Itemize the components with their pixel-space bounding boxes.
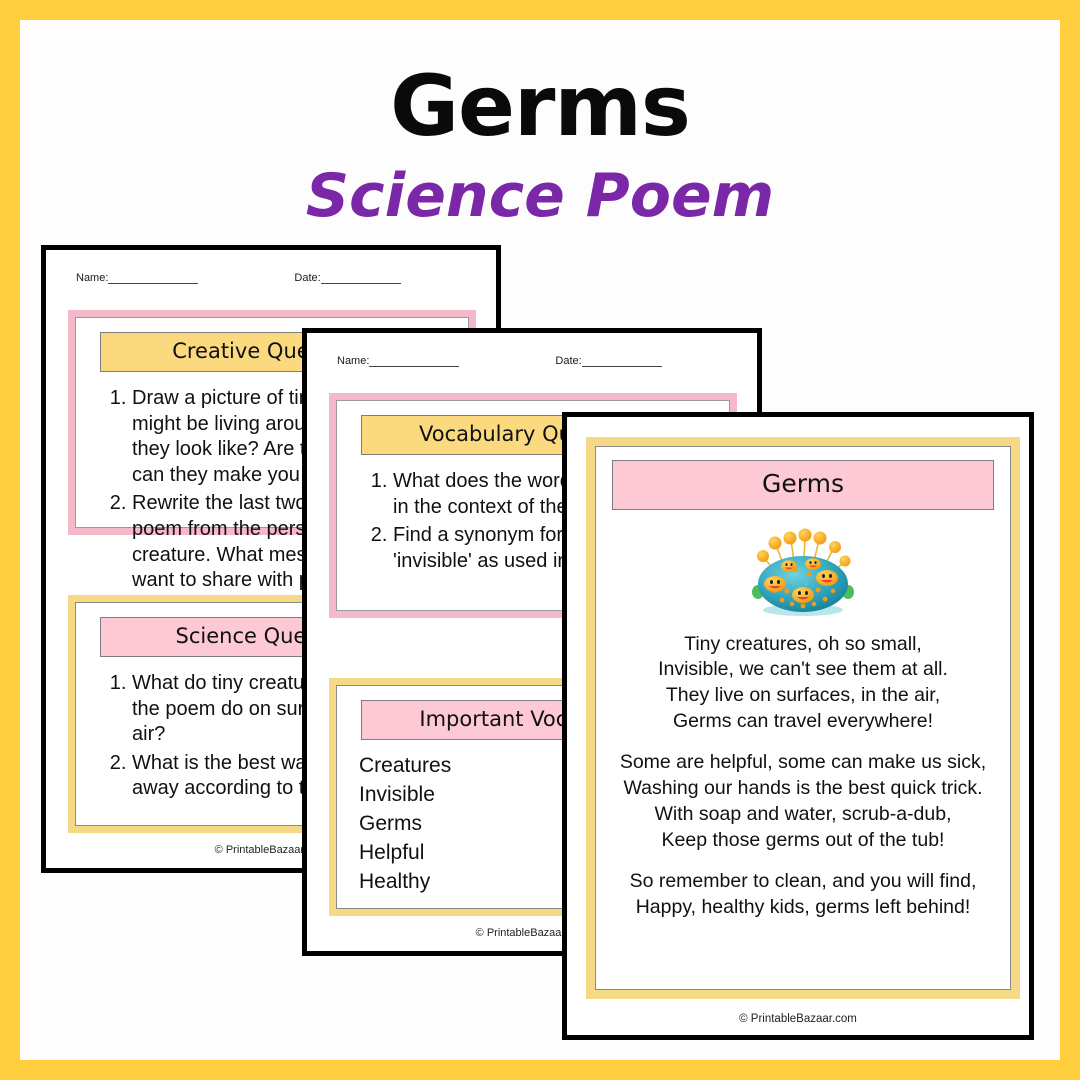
name-label: Name: bbox=[76, 272, 108, 284]
date-field[interactable]: Date: bbox=[555, 355, 661, 367]
poem-frame: Germs bbox=[586, 437, 1020, 999]
date-label: Date: bbox=[294, 272, 320, 284]
worksheet-page: Germs Science Poem Name: Date: Creative … bbox=[20, 20, 1060, 1060]
poem-line: Germs can travel everywhere! bbox=[612, 709, 994, 735]
poem-frame-inner: Germs bbox=[595, 446, 1011, 990]
name-date-row: Name: Date: bbox=[76, 272, 466, 292]
page-subtitle: Science Poem bbox=[20, 166, 1060, 226]
germ-illustration bbox=[748, 522, 858, 620]
poem-line: Happy, healthy kids, germs left behind! bbox=[612, 895, 994, 921]
date-field[interactable]: Date: bbox=[294, 272, 400, 284]
name-date-row: Name: Date: bbox=[337, 355, 727, 375]
poem-line: So remember to clean, and you will find, bbox=[612, 869, 994, 895]
worksheet-sheet-poem[interactable]: Germs bbox=[562, 412, 1034, 1040]
name-input-rule[interactable] bbox=[108, 283, 198, 284]
poem-line: Some are helpful, some can make us sick, bbox=[612, 750, 994, 776]
date-input-rule[interactable] bbox=[321, 283, 401, 284]
poem-stanza: So remember to clean, and you will find,… bbox=[612, 869, 994, 920]
poem-stanza: Tiny creatures, oh so small, Invisible, … bbox=[612, 632, 994, 735]
poem-line: They live on surfaces, in the air, bbox=[612, 683, 994, 709]
date-label: Date: bbox=[555, 355, 581, 367]
name-field[interactable]: Name: bbox=[337, 355, 459, 367]
poem-body: Tiny creatures, oh so small, Invisible, … bbox=[612, 632, 994, 921]
poem-line: Washing our hands is the best quick tric… bbox=[612, 776, 994, 802]
credit-footer: © PrintableBazaar.com bbox=[567, 1013, 1029, 1025]
name-field[interactable]: Name: bbox=[76, 272, 198, 284]
poem-line: With soap and water, scrub-a-dub, bbox=[612, 802, 994, 828]
poem-stanza: Some are helpful, some can make us sick,… bbox=[612, 750, 994, 853]
poem-line: Invisible, we can't see them at all. bbox=[612, 657, 994, 683]
date-input-rule[interactable] bbox=[582, 366, 662, 367]
poem-line: Keep those germs out of the tub! bbox=[612, 828, 994, 854]
name-label: Name: bbox=[337, 355, 369, 367]
page-title: Germs bbox=[20, 64, 1060, 148]
poem-line: Tiny creatures, oh so small, bbox=[612, 632, 994, 658]
name-input-rule[interactable] bbox=[369, 366, 459, 367]
poem-title-bar: Germs bbox=[612, 460, 994, 510]
